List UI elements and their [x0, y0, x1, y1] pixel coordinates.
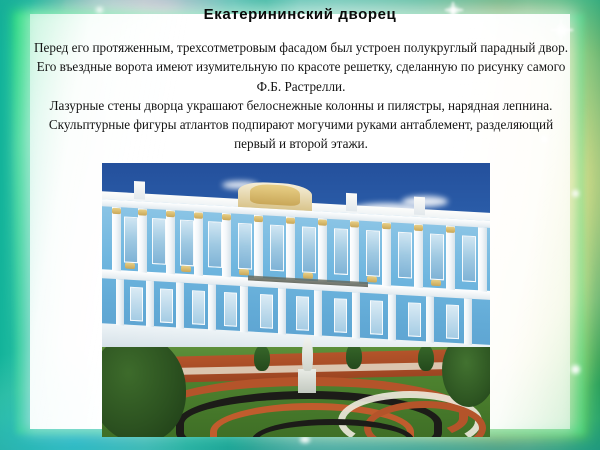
palace-photograph — [102, 163, 490, 437]
gold-capital — [414, 225, 423, 232]
palace-window — [334, 228, 348, 275]
palace-column — [138, 208, 147, 273]
gold-capital — [318, 219, 327, 226]
palace-column — [478, 227, 487, 292]
topiary-cone — [346, 347, 362, 369]
topiary-cone — [254, 347, 270, 371]
palace-atlas-figure — [352, 292, 360, 338]
palace-garden — [102, 347, 490, 437]
paragraph-1: Перед его протяженным, трехсотметровым ф… — [34, 38, 568, 96]
chimney — [414, 197, 425, 216]
gold-stucco — [181, 266, 191, 273]
palace-atlas-figure — [388, 294, 396, 340]
palace-window-lower — [446, 304, 459, 339]
slide-title: Екатерининский дворец — [0, 6, 600, 23]
gold-sculpture-group — [250, 183, 300, 206]
palace-atlas-figure — [464, 298, 472, 344]
palace-window — [302, 226, 316, 273]
palace-atlas-figure — [146, 281, 154, 327]
paragraph-2: Лазурные стены дворца украшают белоснежн… — [34, 96, 568, 154]
palace-window — [180, 220, 194, 267]
palace-column — [166, 210, 175, 275]
presentation-slide: Екатерининский дворец Перед его протяжен… — [0, 0, 600, 450]
palace-column — [286, 217, 295, 282]
gold-capital — [112, 208, 121, 215]
palace-atlas-figure — [278, 288, 286, 334]
chimney — [346, 193, 357, 212]
garden-statue-figure — [302, 337, 313, 371]
palace-window — [398, 232, 412, 279]
palace-column — [414, 224, 423, 289]
gold-capital — [222, 214, 231, 221]
palace-window-lower — [370, 300, 383, 335]
palace-atlas-figure — [176, 282, 184, 328]
gold-capital — [194, 212, 203, 219]
gold-stucco — [125, 263, 135, 270]
palace-column — [112, 207, 121, 272]
palace-window-lower — [130, 287, 143, 322]
palace-window-lower — [260, 294, 273, 329]
palace-window-lower — [224, 292, 237, 327]
palace-window — [366, 230, 380, 277]
gold-capital — [446, 226, 455, 233]
palace-window — [462, 235, 476, 282]
palace-window — [152, 218, 166, 265]
palace-window-lower — [160, 288, 173, 323]
gold-stucco — [431, 280, 441, 287]
palace-atlas-figure — [116, 279, 124, 325]
gold-stucco — [367, 276, 377, 283]
palace-window-lower — [192, 290, 205, 325]
palace-column — [194, 211, 203, 276]
palace-window — [270, 225, 284, 272]
sparkle-icon — [572, 190, 579, 197]
gold-capital — [254, 216, 263, 223]
palace-column — [222, 213, 231, 278]
palace-atlas-figure — [314, 290, 322, 336]
gold-capital — [382, 223, 391, 230]
garden-statue-pedestal — [298, 369, 316, 393]
garden-hedge-large — [102, 347, 186, 437]
gold-capital — [286, 218, 295, 225]
sparkle-icon — [571, 365, 580, 374]
sparkle-icon — [300, 436, 310, 443]
gold-capital — [350, 221, 359, 228]
palace-column — [350, 220, 359, 285]
palace-window — [430, 234, 444, 281]
palace-column — [446, 225, 455, 290]
topiary-cone — [418, 347, 434, 371]
palace-column — [254, 215, 263, 280]
gold-capital — [166, 211, 175, 218]
palace-atlas-figure — [426, 296, 434, 342]
palace-window — [124, 216, 138, 263]
gold-capital — [138, 209, 147, 216]
palace-atlas-figure — [208, 284, 216, 330]
palace-window-lower — [334, 298, 347, 333]
chimney — [134, 181, 145, 200]
palace-column — [318, 218, 327, 283]
palace-column — [382, 222, 391, 287]
palace-window-lower — [408, 302, 421, 337]
slide-body-text: Перед его протяженным, трехсотметровым ф… — [34, 38, 568, 154]
palace-atlas-figure — [240, 286, 248, 332]
palace-window — [208, 221, 222, 268]
palace-window-lower — [296, 296, 309, 331]
palace-window — [238, 223, 252, 270]
